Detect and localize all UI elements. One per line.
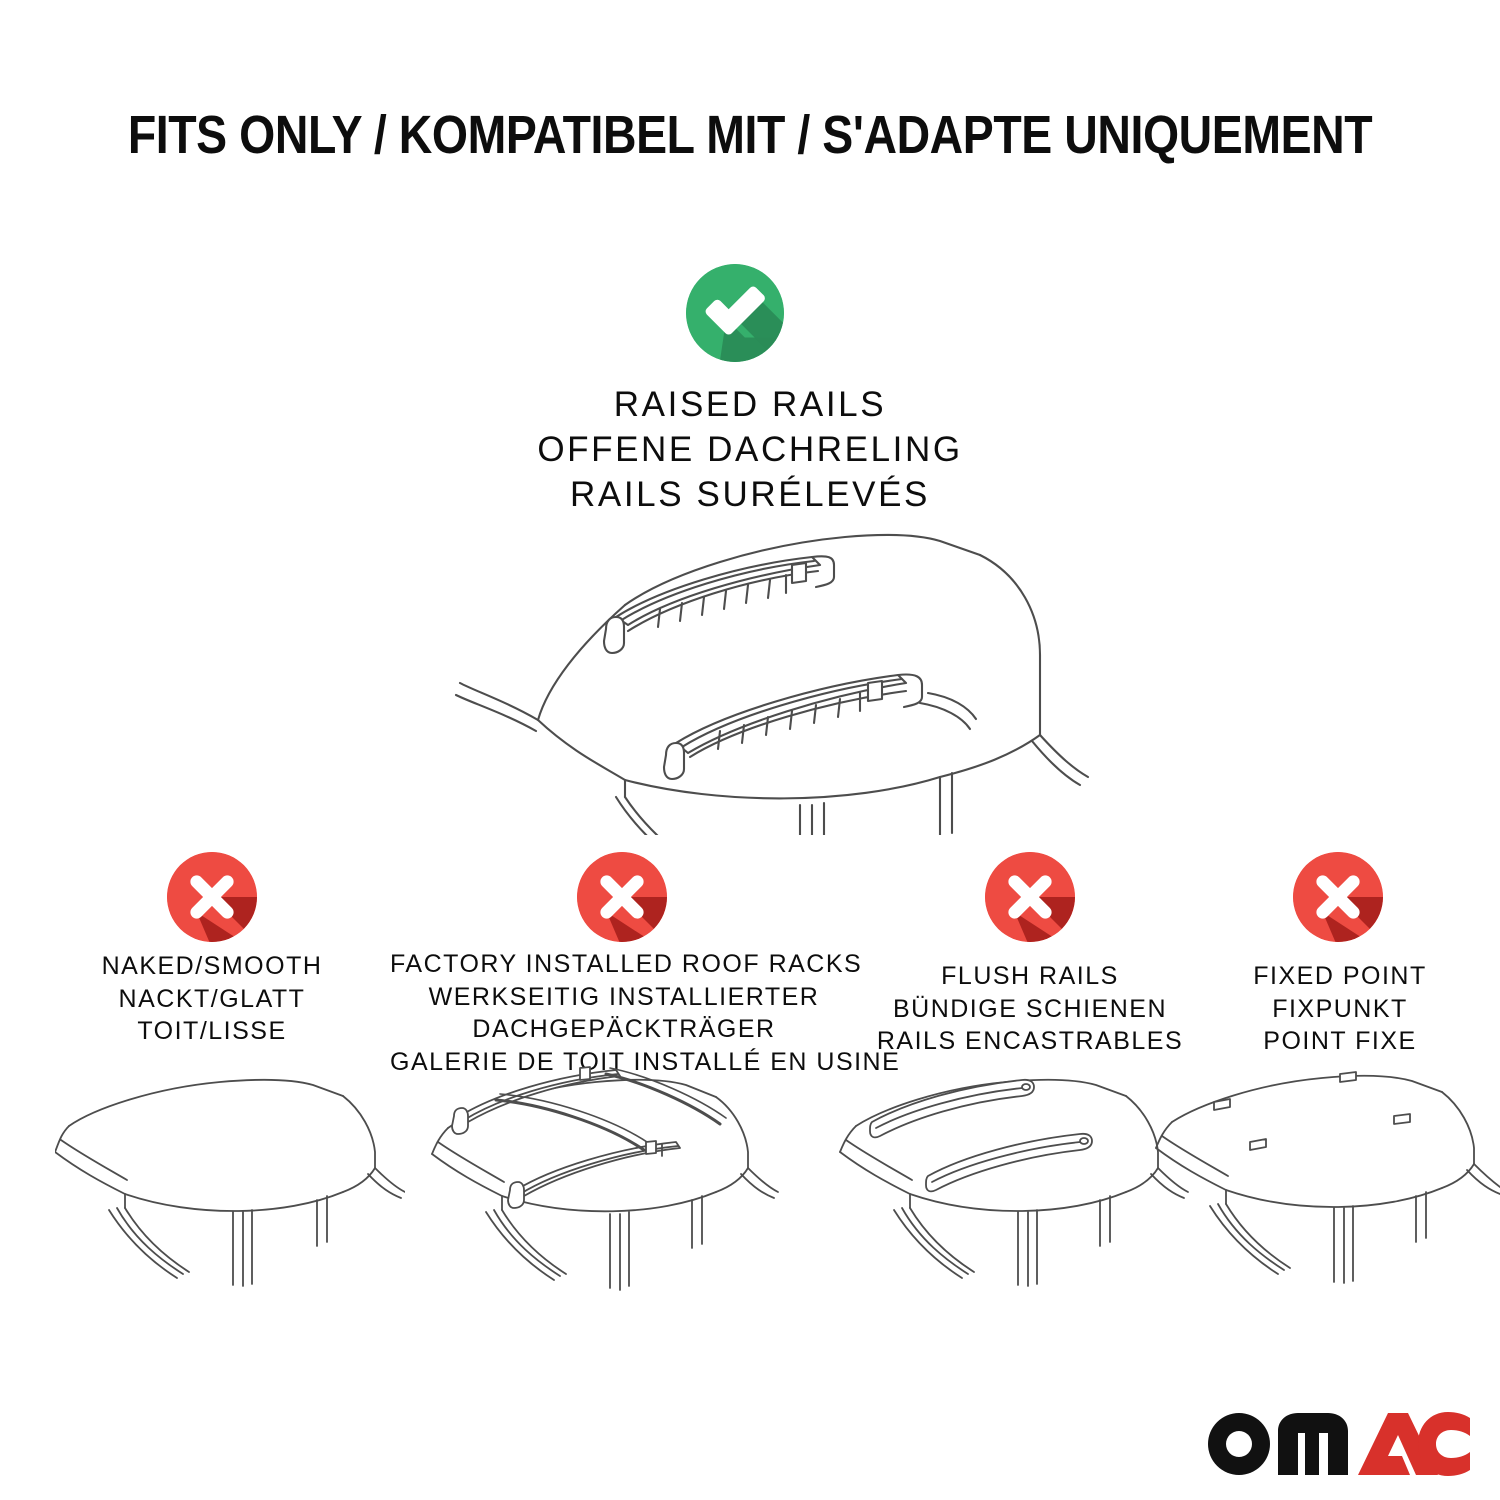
x-circle-icon <box>985 852 1075 942</box>
caption-line-de: BÜNDIGE SCHIENEN <box>860 993 1200 1026</box>
fitment-infographic: FITS ONLY / KOMPATIBEL MIT / S'ADAPTE UN… <box>0 0 1500 1500</box>
car-roof-fixed-point-illustration <box>1150 1060 1500 1295</box>
caption-line-fr: TOIT/LISSE <box>42 1015 382 1048</box>
car-roof-raised-rails-illustration <box>420 505 1090 835</box>
x-circle-icon <box>1293 852 1383 942</box>
x-circle-icon <box>167 852 257 942</box>
caption-line-de: NACKT/GLATT <box>42 983 382 1016</box>
incompatible-caption-fixed-point: FIXED POINT FIXPUNKT POINT FIXE <box>1190 960 1490 1058</box>
compatible-caption: RAISED RAILS OFFENE DACHRELING RAILS SUR… <box>450 382 1050 517</box>
omac-logo-mark <box>1202 1396 1472 1482</box>
x-mark-glyph <box>167 852 257 942</box>
caption-line-de: FIXPUNKT <box>1190 993 1490 1026</box>
caption-line-fr: RAILS ENCASTRABLES <box>860 1025 1200 1058</box>
caption-line-en: NAKED/SMOOTH <box>42 950 382 983</box>
caption-line-fr: POINT FIXE <box>1190 1025 1490 1058</box>
check-mark-glyph <box>686 264 784 362</box>
compatible-line-en: RAISED RAILS <box>450 382 1050 427</box>
x-mark-glyph <box>577 852 667 942</box>
caption-line-en: FIXED POINT <box>1190 960 1490 993</box>
caption-line-de-2: DACHGEPÄCKTRÄGER <box>390 1013 858 1046</box>
car-roof-naked-smooth-illustration <box>55 1060 405 1295</box>
caption-line-en: FLUSH RAILS <box>860 960 1200 993</box>
x-mark-glyph <box>1293 852 1383 942</box>
compatible-line-de: OFFENE DACHRELING <box>450 427 1050 472</box>
page-title: FITS ONLY / KOMPATIBEL MIT / S'ADAPTE UN… <box>105 104 1395 166</box>
incompatible-caption-naked-smooth: NAKED/SMOOTH NACKT/GLATT TOIT/LISSE <box>42 950 382 1048</box>
incompatible-caption-flush-rails: FLUSH RAILS BÜNDIGE SCHIENEN RAILS ENCAS… <box>860 960 1200 1058</box>
caption-line-en: FACTORY INSTALLED ROOF RACKS <box>390 948 858 981</box>
car-roof-factory-racks-illustration <box>420 1050 790 1295</box>
caption-line-de-1: WERKSEITIG INSTALLIERTER <box>390 981 858 1014</box>
omac-logo <box>1202 1396 1472 1482</box>
check-circle-icon <box>686 264 784 362</box>
x-circle-icon <box>577 852 667 942</box>
car-roof-flush-rails-illustration <box>830 1060 1200 1295</box>
x-mark-glyph <box>985 852 1075 942</box>
